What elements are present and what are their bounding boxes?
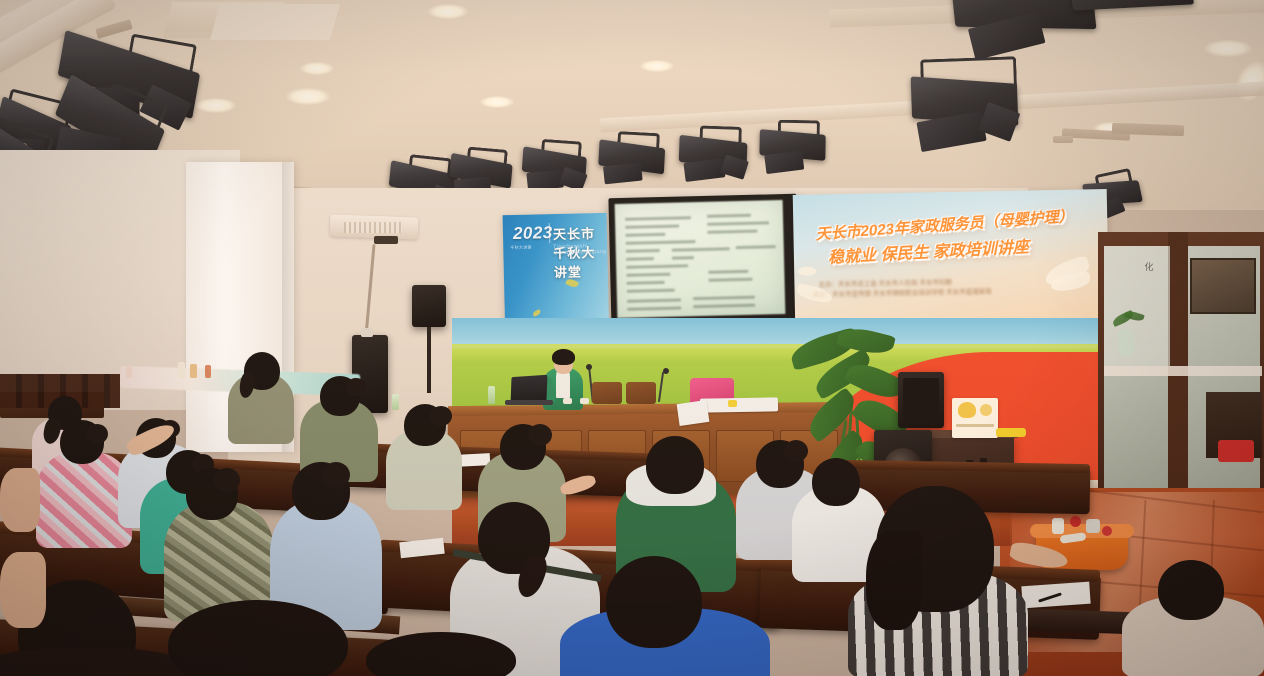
wall-calligraphy: 化 <box>1142 262 1156 314</box>
stage-light-10 <box>755 119 834 178</box>
person-head-13 <box>606 556 702 648</box>
person-head-17 <box>1158 560 1224 620</box>
podium-cup-1 <box>563 398 572 404</box>
ceiling-recess-center <box>210 4 340 40</box>
projector-grill <box>344 222 402 233</box>
stage-chair-2 <box>626 382 656 404</box>
downlight-2 <box>196 98 236 113</box>
supply-bottle-3 <box>205 365 211 378</box>
corridor-wall <box>1104 246 1170 366</box>
demo-poster <box>952 398 998 438</box>
banner-left-sub: 千秋大讲堂 <box>510 245 532 251</box>
microphone-2-head <box>663 368 669 374</box>
corridor-red-bag <box>1218 440 1254 462</box>
supply-bottle-1 <box>178 362 185 378</box>
demo-poster-figure <box>958 402 976 418</box>
person-head-15 <box>812 458 860 506</box>
banner-right: 天长市2023年家政服务员（母婴护理） 稳就业 保民生 家政培训讲座 主办：天长… <box>793 189 1110 331</box>
person-head-12 <box>646 436 704 494</box>
corridor-noticeboard <box>1190 258 1256 314</box>
person-bun-2 <box>86 424 108 444</box>
person-18-skin <box>0 552 46 628</box>
person-bun-10 <box>528 424 552 446</box>
corridor-plant-pot <box>1118 330 1134 356</box>
podium-yellow-item <box>728 400 737 407</box>
banner-left-year: 2023 <box>513 223 553 244</box>
projector-mount <box>374 236 398 244</box>
banner-leaf-2 <box>532 309 541 317</box>
podium-cup-2 <box>580 398 589 404</box>
wall-speaker-left <box>412 285 446 327</box>
person-bun-9 <box>430 406 452 426</box>
basin-item-bottle-grey <box>1086 519 1100 533</box>
subwoofer-cap <box>361 328 373 337</box>
ceiling-vent-3 <box>1053 136 1073 143</box>
person-19-skin <box>0 468 40 532</box>
basin-item-bottle-white <box>1052 518 1064 534</box>
demo-poster-figure-2 <box>980 404 992 416</box>
downlight-8 <box>480 96 514 108</box>
person-bun-5 <box>214 468 240 492</box>
person-bun-7 <box>346 378 366 396</box>
podium-towels <box>700 397 778 412</box>
supply-bottle-4 <box>126 366 132 378</box>
demo-yellow-tray <box>996 428 1026 437</box>
stage-light-11 <box>906 56 1029 156</box>
projection-screen <box>615 200 786 318</box>
podium-bottle <box>488 386 495 404</box>
stage-speaker-right-grille <box>903 378 939 422</box>
person-bun-8 <box>322 462 350 488</box>
podium-paper-drape <box>677 400 710 426</box>
water-bottle-aisle <box>392 394 399 410</box>
banner-right-org-line2: 承办：天长市宣传部 天长市锦程职业培训学校 天长市蓝城家政 <box>813 285 992 298</box>
microphone-1-head <box>586 364 592 370</box>
supply-bottle-2 <box>190 364 197 378</box>
basin-item-red-cap <box>1070 516 1081 527</box>
stage-chair-1 <box>592 382 622 404</box>
wall-speaker-stand <box>427 327 431 393</box>
downlight-9 <box>640 60 674 72</box>
stage-light-9 <box>674 125 756 188</box>
lecture-hall-photo: 培训课件内容 2023 天长市千秋大讲堂 千秋大讲堂 Tianchangshi … <box>0 0 1264 676</box>
downlight-5 <box>1204 40 1252 57</box>
person-body-18 <box>0 648 190 676</box>
presenter-hair <box>552 349 575 365</box>
person-bun-14 <box>784 440 808 462</box>
person-16-hair-fall <box>866 530 922 630</box>
door-horizontal-rail <box>1104 366 1262 376</box>
dove-graphic <box>798 267 816 276</box>
laptop-base <box>505 400 553 405</box>
basin-item-red-cap-2 <box>1102 526 1112 536</box>
downlight-3 <box>428 4 468 19</box>
banner-left-pinyin: Tianchangshi Qianqiu Dajiangtang <box>553 243 607 256</box>
downlight-6 <box>300 62 334 75</box>
stage-light-8 <box>593 130 674 192</box>
demo-poster-caption <box>956 424 994 427</box>
downlight-1 <box>286 88 330 105</box>
